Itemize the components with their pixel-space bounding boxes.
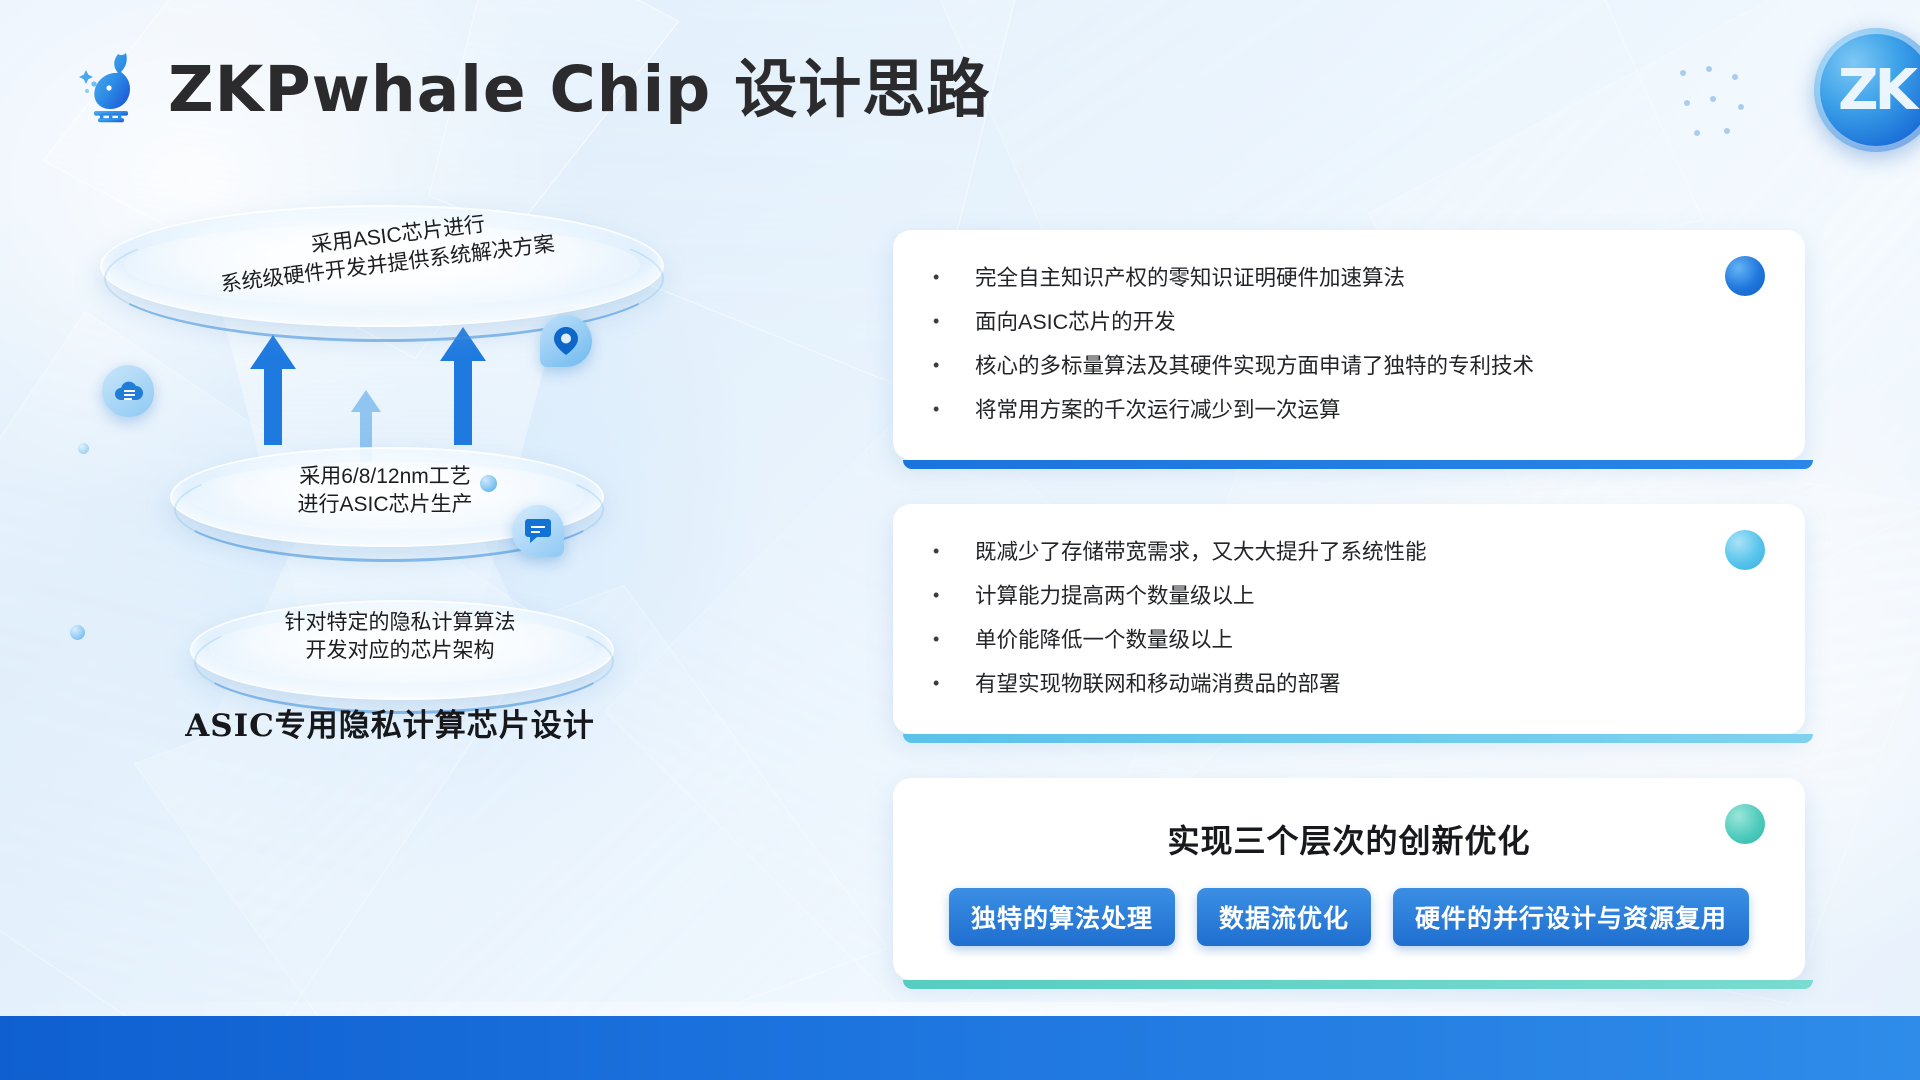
stage-label-middle-line2: 进行ASIC芯片生产 bbox=[297, 493, 472, 516]
bullet-marker: • bbox=[933, 396, 975, 422]
innovation-pill-row: 独特的算法处理 数据流优化 硬件的并行设计与资源复用 bbox=[933, 888, 1765, 946]
list-item-text: 核心的多标量算法及其硬件实现方面申请了独特的专利技术 bbox=[975, 352, 1534, 381]
list-item: • 完全自主知识产权的零知识证明硬件加速算法 bbox=[933, 256, 1765, 300]
list-item-text: 计算能力提高两个数量级以上 bbox=[975, 582, 1255, 611]
card-innovation: 实现三个层次的创新优化 独特的算法处理 数据流优化 硬件的并行设计与资源复用 bbox=[893, 778, 1805, 980]
title-row: ZKPwhale Chip 设计思路 bbox=[78, 48, 990, 130]
stage-label-bottom-line2: 开发对应的芯片架构 bbox=[306, 639, 495, 662]
chat-bubble-icon bbox=[512, 505, 564, 557]
card-performance: • 既减少了存储带宽需求，又大大提升了系统性能 • 计算能力提高两个数量级以上 … bbox=[893, 504, 1805, 734]
stage-label-bottom-line1: 针对特定的隐私计算算法 bbox=[285, 611, 516, 634]
illustration-caption: ASIC专用隐私计算芯片设计 bbox=[60, 700, 720, 745]
bullet-marker: • bbox=[933, 352, 975, 378]
whale-icon bbox=[78, 48, 146, 130]
footer-bar bbox=[0, 1016, 1920, 1080]
list-item-text: 将常用方案的千次运行减少到一次运算 bbox=[975, 396, 1341, 425]
bullet-list: • 既减少了存储带宽需求，又大大提升了系统性能 • 计算能力提高两个数量级以上 … bbox=[933, 530, 1765, 706]
stage-label-middle-line1: 采用6/8/12nm工艺 bbox=[299, 465, 471, 488]
card-status-dot bbox=[1725, 804, 1765, 844]
location-pin-icon bbox=[540, 315, 592, 367]
list-item-text: 既减少了存储带宽需求，又大大提升了系统性能 bbox=[975, 538, 1427, 567]
list-item: • 面向ASIC芯片的开发 bbox=[933, 300, 1765, 344]
list-item: • 有望实现物联网和移动端消费品的部署 bbox=[933, 662, 1765, 706]
bullet-marker: • bbox=[933, 308, 975, 334]
zkp-coin-icon: ZK bbox=[1814, 28, 1920, 152]
pill-algorithm-processing[interactable]: 独特的算法处理 bbox=[949, 888, 1175, 946]
list-item-text: 面向ASIC芯片的开发 bbox=[975, 308, 1176, 337]
list-item: • 单价能降低一个数量级以上 bbox=[933, 618, 1765, 662]
list-item: • 将常用方案的千次运行减少到一次运算 bbox=[933, 388, 1765, 432]
up-arrow-icon bbox=[440, 327, 486, 450]
card-status-dot bbox=[1725, 530, 1765, 570]
cards-column: • 完全自主知识产权的零知识证明硬件加速算法 • 面向ASIC芯片的开发 • 核… bbox=[893, 230, 1805, 1024]
up-arrow-icon bbox=[250, 335, 296, 450]
list-item-text: 单价能降低一个数量级以上 bbox=[975, 626, 1233, 655]
pill-dataflow-optimization[interactable]: 数据流优化 bbox=[1197, 888, 1371, 946]
decorative-bubble bbox=[70, 625, 85, 640]
decorative-dot-grid bbox=[1680, 60, 1800, 150]
list-item-text: 有望实现物联网和移动端消费品的部署 bbox=[975, 670, 1341, 699]
bullet-marker: • bbox=[933, 670, 975, 696]
decorative-bubble bbox=[480, 475, 497, 492]
footer-highlight bbox=[0, 1002, 1920, 1016]
card-innovation-title: 实现三个层次的创新优化 bbox=[933, 816, 1765, 862]
page-title: ZKPwhale Chip 设计思路 bbox=[168, 58, 990, 121]
bullet-marker: • bbox=[933, 264, 975, 290]
bullet-marker: • bbox=[933, 626, 975, 652]
pill-parallel-hardware-design[interactable]: 硬件的并行设计与资源复用 bbox=[1393, 888, 1749, 946]
decorative-bubble bbox=[78, 443, 89, 454]
list-item: • 核心的多标量算法及其硬件实现方面申请了独特的专利技术 bbox=[933, 344, 1765, 388]
card-algorithm: • 完全自主知识产权的零知识证明硬件加速算法 • 面向ASIC芯片的开发 • 核… bbox=[893, 230, 1805, 460]
card-status-dot bbox=[1725, 256, 1765, 296]
chip-design-illustration: 采用ASIC芯片进行 系统级硬件开发并提供系统解决方案 采用6/8/12nm工艺… bbox=[60, 185, 720, 975]
cloud-icon bbox=[102, 365, 154, 417]
list-item: • 计算能力提高两个数量级以上 bbox=[933, 574, 1765, 618]
slide-root: ZKPwhale Chip 设计思路 ZK 采用A bbox=[0, 0, 1920, 1080]
bullet-marker: • bbox=[933, 538, 975, 564]
bullet-list: • 完全自主知识产权的零知识证明硬件加速算法 • 面向ASIC芯片的开发 • 核… bbox=[933, 256, 1765, 432]
slide-header: ZKPwhale Chip 设计思路 ZK bbox=[0, 0, 1920, 175]
stage-label-bottom: 针对特定的隐私计算算法 开发对应的芯片架构 bbox=[188, 609, 612, 665]
bullet-marker: • bbox=[933, 582, 975, 608]
list-item-text: 完全自主知识产权的零知识证明硬件加速算法 bbox=[975, 264, 1405, 293]
list-item: • 既减少了存储带宽需求，又大大提升了系统性能 bbox=[933, 530, 1765, 574]
